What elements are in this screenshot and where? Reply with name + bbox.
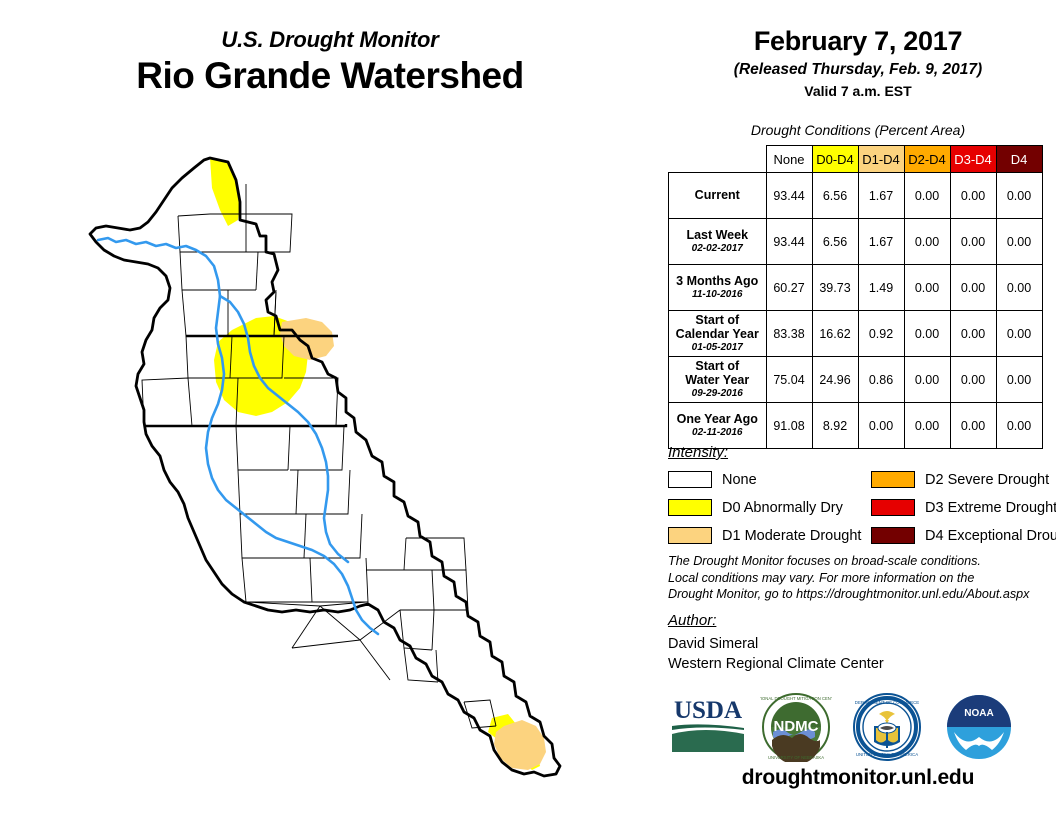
row-label-date: 02-11-2016 — [669, 427, 766, 438]
row-label-start-water-year: Start ofWater Year 09-29-2016 — [669, 357, 767, 403]
row-label-date: 11-10-2016 — [669, 289, 766, 300]
swatch-none-icon — [668, 471, 712, 488]
row-label-text: Start ofCalendar Year — [676, 313, 759, 341]
cell-d1: 1.49 — [858, 265, 904, 311]
row-label-3-months-ago: 3 Months Ago 11-10-2016 — [669, 265, 767, 311]
table-caption: Drought Conditions (Percent Area) — [660, 122, 1056, 138]
col-header-d0: D0-D4 — [812, 146, 858, 173]
cell-d3: 0.00 — [950, 219, 996, 265]
usda-wordmark: USDA — [674, 697, 742, 724]
svg-text:UNIVERSITY OF NEBRASKA: UNIVERSITY OF NEBRASKA — [768, 755, 824, 760]
cell-d2: 0.00 — [904, 403, 950, 449]
legend-item-none: None — [668, 468, 861, 491]
cell-d2: 0.00 — [904, 173, 950, 219]
row-label-text: Current — [695, 188, 740, 202]
watershed-map — [60, 140, 640, 800]
row-label-last-week: Last Week 02-02-2017 — [669, 219, 767, 265]
table-row: 3 Months Ago 11-10-2016 60.27 39.73 1.49… — [669, 265, 1043, 311]
cell-d1: 0.86 — [858, 357, 904, 403]
author-affiliation: Western Regional Climate Center — [668, 654, 1048, 674]
row-label-date: 01-05-2017 — [669, 342, 766, 353]
noaa-logo: NOAA — [944, 692, 1014, 762]
cell-d2: 0.00 — [904, 219, 950, 265]
row-label-one-year-ago: One Year Ago 02-11-2016 — [669, 403, 767, 449]
legend-column-left: None D0 Abnormally Dry D1 Moderate Droug… — [668, 468, 861, 552]
legend-label: D0 Abnormally Dry — [722, 500, 843, 516]
table-body: Current 93.44 6.56 1.67 0.00 0.00 0.00 L… — [669, 173, 1043, 449]
page-title: Rio Grande Watershed — [0, 56, 660, 97]
map-river — [98, 238, 378, 634]
agency-logos: USDA NDMC NATIONAL DROUGHT MITIGATION CE… — [660, 692, 1056, 764]
col-header-d4: D4 — [996, 146, 1042, 173]
usdc-seal-logo: DEPARTMENT OF COMMERCE UNITED STATES OF … — [852, 692, 922, 762]
cell-d2: 0.00 — [904, 311, 950, 357]
cell-d3: 0.00 — [950, 173, 996, 219]
col-header-d1: D1-D4 — [858, 146, 904, 173]
cell-d3: 0.00 — [950, 357, 996, 403]
cell-d4: 0.00 — [996, 265, 1042, 311]
cell-d4: 0.00 — [996, 219, 1042, 265]
report-released: (Released Thursday, Feb. 9, 2017) — [660, 61, 1056, 79]
map-county-lines — [142, 184, 496, 728]
legend-item-d0: D0 Abnormally Dry — [668, 496, 861, 519]
cell-d4: 0.00 — [996, 403, 1042, 449]
row-label-date: 02-02-2017 — [669, 243, 766, 254]
table-row: Start ofCalendar Year 01-05-2017 83.38 1… — [669, 311, 1043, 357]
cell-d3: 0.00 — [950, 311, 996, 357]
cell-d0: 39.73 — [812, 265, 858, 311]
drought-monitor-page: U.S. Drought Monitor Rio Grande Watershe… — [0, 0, 1056, 816]
col-header-d2: D2-D4 — [904, 146, 950, 173]
cell-none: 75.04 — [766, 357, 812, 403]
swatch-d2-icon — [871, 471, 915, 488]
cell-d0: 6.56 — [812, 173, 858, 219]
legend-label: D1 Moderate Drought — [722, 528, 861, 544]
cell-d1: 1.67 — [858, 173, 904, 219]
cell-none: 93.44 — [766, 219, 812, 265]
swatch-d4-icon — [871, 527, 915, 544]
cell-d4: 0.00 — [996, 173, 1042, 219]
page-subtitle: U.S. Drought Monitor — [0, 28, 660, 51]
cell-d0: 24.96 — [812, 357, 858, 403]
legend-label: D2 Severe Drought — [925, 472, 1049, 488]
cell-d1: 1.67 — [858, 219, 904, 265]
cell-d3: 0.00 — [950, 265, 996, 311]
report-valid-time: Valid 7 a.m. EST — [660, 83, 1056, 99]
svg-text:UNITED STATES OF AMERICA: UNITED STATES OF AMERICA — [856, 752, 918, 757]
intensity-heading: Intensity: — [668, 444, 728, 461]
author-heading: Author: — [668, 612, 716, 629]
author-name: David Simeral — [668, 634, 1048, 654]
row-label-text: 3 Months Ago — [676, 274, 758, 288]
table-corner-cell — [669, 146, 767, 173]
cell-none: 60.27 — [766, 265, 812, 311]
map-outer-boundary — [90, 158, 560, 776]
row-label-current: Current — [669, 173, 767, 219]
table-row: Current 93.44 6.56 1.67 0.00 0.00 0.00 — [669, 173, 1043, 219]
row-label-text: One Year Ago — [677, 412, 758, 426]
col-header-d3: D3-D4 — [950, 146, 996, 173]
legend-label: None — [722, 472, 757, 488]
svg-text:NATIONAL DROUGHT MITIGATION CE: NATIONAL DROUGHT MITIGATION CENTER — [760, 696, 832, 701]
cell-d2: 0.00 — [904, 357, 950, 403]
legend-item-d4: D4 Exceptional Drought — [871, 524, 1056, 547]
legend-item-d3: D3 Extreme Drought — [871, 496, 1056, 519]
cell-none: 93.44 — [766, 173, 812, 219]
noaa-wordmark: NOAA — [964, 708, 993, 719]
legend-item-d1: D1 Moderate Drought — [668, 524, 861, 547]
svg-text:DEPARTMENT OF COMMERCE: DEPARTMENT OF COMMERCE — [855, 700, 919, 705]
footer-url[interactable]: droughtmonitor.unl.edu — [660, 766, 1056, 790]
disclaimer-text: The Drought Monitor focuses on broad-sca… — [668, 553, 1048, 603]
swatch-d3-icon — [871, 499, 915, 516]
map-drought-areas — [210, 158, 546, 770]
legend-column-right: D2 Severe Drought D3 Extreme Drought D4 … — [871, 468, 1056, 552]
table-row: Start ofWater Year 09-29-2016 75.04 24.9… — [669, 357, 1043, 403]
row-label-text: Last Week — [686, 228, 748, 242]
disclaimer-line-1: The Drought Monitor focuses on broad-sca… — [668, 553, 1048, 570]
row-label-text: Start ofWater Year — [685, 359, 749, 387]
cell-none: 83.38 — [766, 311, 812, 357]
ndmc-logo: NDMC NATIONAL DROUGHT MITIGATION CENTER … — [760, 692, 832, 762]
legend-label: D4 Exceptional Drought — [925, 528, 1056, 544]
report-header: February 7, 2017 (Released Thursday, Feb… — [660, 26, 1056, 99]
table-row: One Year Ago 02-11-2016 91.08 8.92 0.00 … — [669, 403, 1043, 449]
row-label-date: 09-29-2016 — [669, 388, 766, 399]
table-row: Last Week 02-02-2017 93.44 6.56 1.67 0.0… — [669, 219, 1043, 265]
author-block: David Simeral Western Regional Climate C… — [668, 634, 1048, 674]
drought-conditions-table: None D0-D4 D1-D4 D2-D4 D3-D4 D4 Current … — [668, 145, 1043, 449]
disclaimer-line-2: Local conditions may vary. For more info… — [668, 570, 1048, 587]
cell-none: 91.08 — [766, 403, 812, 449]
legend-item-d2: D2 Severe Drought — [871, 468, 1056, 491]
cell-d0: 8.92 — [812, 403, 858, 449]
disclaimer-line-3: Drought Monitor, go to https://droughtmo… — [668, 586, 1048, 603]
usda-logo: USDA — [668, 692, 748, 756]
cell-d4: 0.00 — [996, 357, 1042, 403]
cell-d3: 0.00 — [950, 403, 996, 449]
title-block: U.S. Drought Monitor Rio Grande Watershe… — [0, 28, 660, 97]
report-date: February 7, 2017 — [660, 26, 1056, 57]
legend-label: D3 Extreme Drought — [925, 500, 1056, 516]
swatch-d1-icon — [668, 527, 712, 544]
table-header-row: None D0-D4 D1-D4 D2-D4 D3-D4 D4 — [669, 146, 1043, 173]
swatch-d0-icon — [668, 499, 712, 516]
cell-d2: 0.00 — [904, 265, 950, 311]
col-header-none: None — [766, 146, 812, 173]
cell-d0: 6.56 — [812, 219, 858, 265]
cell-d0: 16.62 — [812, 311, 858, 357]
cell-d1: 0.00 — [858, 403, 904, 449]
cell-d4: 0.00 — [996, 311, 1042, 357]
ndmc-wordmark: NDMC — [774, 718, 819, 735]
d0-area-north — [210, 158, 240, 226]
row-label-start-calendar-year: Start ofCalendar Year 01-05-2017 — [669, 311, 767, 357]
cell-d1: 0.92 — [858, 311, 904, 357]
